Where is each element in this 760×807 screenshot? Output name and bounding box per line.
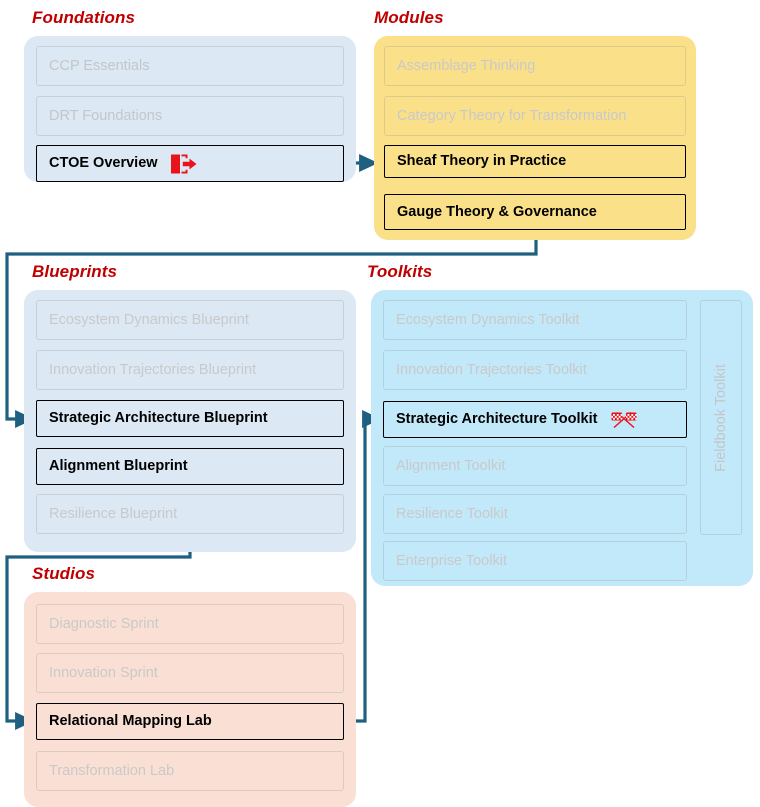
exit-door-icon <box>170 153 198 175</box>
item-enterprise-toolkit[interactable]: Enterprise Toolkit <box>383 541 687 581</box>
item-strategic-architecture-blueprint[interactable]: Strategic Architecture Blueprint <box>36 400 344 437</box>
item-ctoe-overview[interactable]: CTOE Overview <box>36 145 344 182</box>
group-title-blueprints: Blueprints <box>32 262 117 282</box>
item-innovation-trajectories-blueprint[interactable]: Innovation Trajectories Blueprint <box>36 350 344 390</box>
item-relational-mapping-lab[interactable]: Relational Mapping Lab <box>36 703 344 740</box>
item-label: Alignment Toolkit <box>396 459 505 474</box>
item-label: Innovation Trajectories Toolkit <box>396 363 587 378</box>
item-label: Resilience Toolkit <box>396 507 508 522</box>
item-label: Strategic Architecture Toolkit <box>396 412 597 427</box>
item-label: Transformation Lab <box>49 764 174 779</box>
item-label: Enterprise Toolkit <box>396 554 507 569</box>
checkered-flags-icon <box>609 409 639 431</box>
item-ecosystem-dynamics-toolkit[interactable]: Ecosystem Dynamics Toolkit <box>383 300 687 340</box>
item-label: Strategic Architecture Blueprint <box>49 411 268 426</box>
group-title-modules: Modules <box>374 8 444 28</box>
item-transformation-lab[interactable]: Transformation Lab <box>36 751 344 791</box>
item-resilience-toolkit[interactable]: Resilience Toolkit <box>383 494 687 534</box>
group-title-toolkits: Toolkits <box>367 262 432 282</box>
item-category-theory-for-transformation[interactable]: Category Theory for Transformation <box>384 96 686 136</box>
item-label: Assemblage Thinking <box>397 59 535 74</box>
item-assemblage-thinking[interactable]: Assemblage Thinking <box>384 46 686 86</box>
item-diagnostic-sprint[interactable]: Diagnostic Sprint <box>36 604 344 644</box>
item-label: DRT Foundations <box>49 109 162 124</box>
item-label: CCP Essentials <box>49 59 149 74</box>
item-label: Diagnostic Sprint <box>49 617 159 632</box>
item-label: Category Theory for Transformation <box>397 109 626 124</box>
item-alignment-toolkit[interactable]: Alignment Toolkit <box>383 446 687 486</box>
item-strategic-architecture-toolkit[interactable]: Strategic Architecture Toolkit <box>383 401 687 438</box>
item-sheaf-theory-in-practice[interactable]: Sheaf Theory in Practice <box>384 145 686 178</box>
item-drt-foundations[interactable]: DRT Foundations <box>36 96 344 136</box>
pathway-diagram: Foundations CCP Essentials DRT Foundatio… <box>0 0 760 807</box>
item-label: CTOE Overview <box>49 156 158 171</box>
item-label: Ecosystem Dynamics Blueprint <box>49 313 249 328</box>
item-ccp-essentials[interactable]: CCP Essentials <box>36 46 344 86</box>
item-label: Sheaf Theory in Practice <box>397 154 566 169</box>
item-label: Innovation Sprint <box>49 666 158 681</box>
item-ecosystem-dynamics-blueprint[interactable]: Ecosystem Dynamics Blueprint <box>36 300 344 340</box>
item-label: Fieldbook Toolkit <box>713 364 729 472</box>
item-label: Ecosystem Dynamics Toolkit <box>396 313 579 328</box>
item-label: Alignment Blueprint <box>49 459 188 474</box>
group-title-foundations: Foundations <box>32 8 135 28</box>
item-innovation-trajectories-toolkit[interactable]: Innovation Trajectories Toolkit <box>383 350 687 390</box>
item-resilience-blueprint[interactable]: Resilience Blueprint <box>36 494 344 534</box>
item-fieldbook-toolkit[interactable]: Fieldbook Toolkit <box>700 300 742 535</box>
item-label: Gauge Theory & Governance <box>397 205 597 220</box>
item-label: Resilience Blueprint <box>49 507 177 522</box>
item-alignment-blueprint[interactable]: Alignment Blueprint <box>36 448 344 485</box>
item-label: Relational Mapping Lab <box>49 714 212 729</box>
item-label: Innovation Trajectories Blueprint <box>49 363 256 378</box>
group-title-studios: Studios <box>32 564 95 584</box>
item-innovation-sprint[interactable]: Innovation Sprint <box>36 653 344 693</box>
item-gauge-theory-and-governance[interactable]: Gauge Theory & Governance <box>384 194 686 230</box>
